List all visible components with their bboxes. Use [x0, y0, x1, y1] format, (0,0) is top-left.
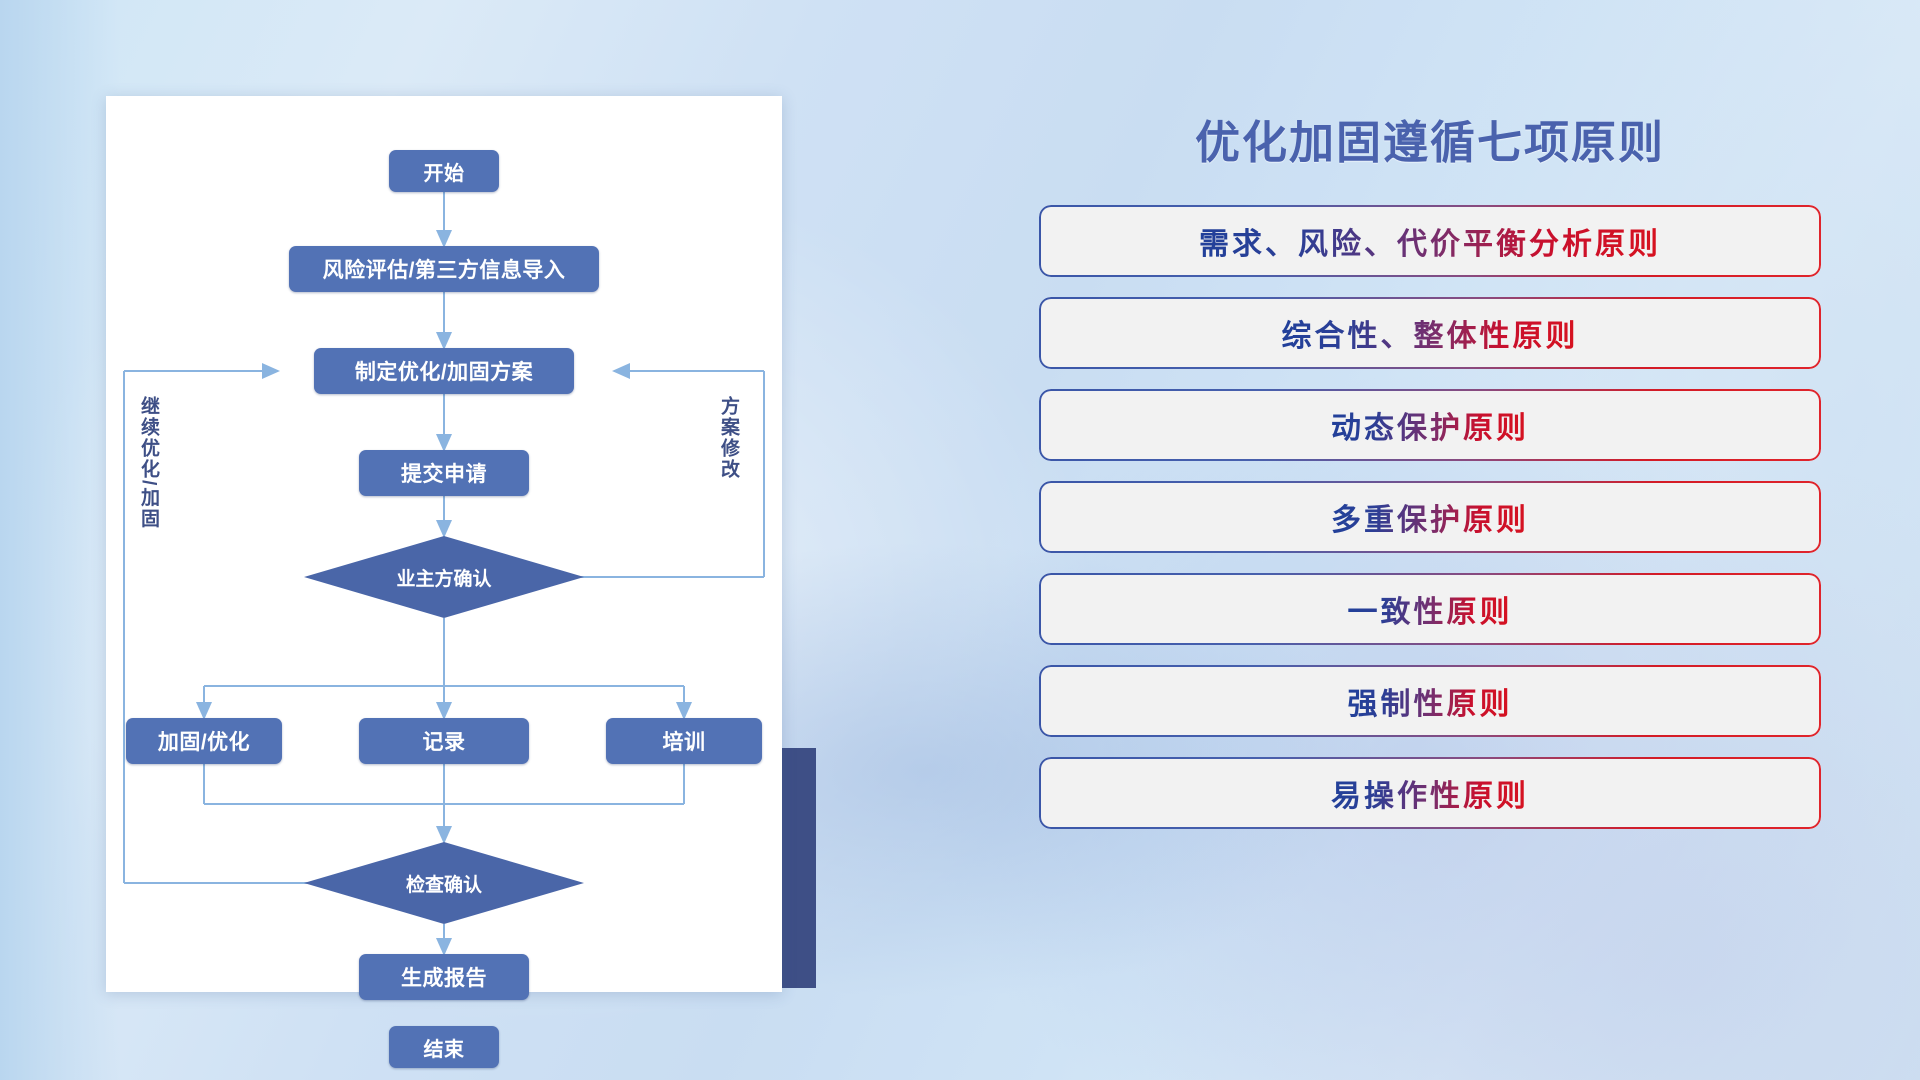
flow-node-plan[interactable]: 制定优化/加固方案	[314, 348, 574, 394]
flow-node-record[interactable]: 记录	[359, 718, 529, 764]
principle-label: 动态保护原则	[1331, 403, 1529, 447]
principle-item-7[interactable]: 易操作性原则	[1039, 757, 1821, 829]
flow-node-label: 加固/优化	[158, 726, 250, 756]
flow-edge-label-left: 继续优化/加固	[138, 396, 158, 529]
principle-label: 多重保护原则	[1331, 495, 1529, 539]
background-edge-left	[0, 0, 120, 1080]
flow-node-label: 制定优化/加固方案	[355, 356, 533, 386]
flow-node-risk-assessment[interactable]: 风险评估/第三方信息导入	[289, 246, 599, 292]
principle-item-2[interactable]: 综合性、整体性原则	[1039, 297, 1821, 369]
flowchart-card: 开始 风险评估/第三方信息导入 制定优化/加固方案 提交申请 业主方确认 加固/…	[106, 96, 782, 992]
panel-title: 优化加固遵循七项原则	[1020, 96, 1840, 171]
principle-item-6[interactable]: 强制性原则	[1039, 665, 1821, 737]
flow-node-owner-confirm[interactable]: 业主方确认	[304, 536, 584, 618]
flow-node-submit[interactable]: 提交申请	[359, 450, 529, 496]
flow-edge-label-right: 方案修改	[718, 396, 738, 480]
flow-node-label: 记录	[423, 726, 466, 756]
flow-node-label: 开始	[424, 157, 465, 186]
flow-node-generate-report[interactable]: 生成报告	[359, 954, 529, 1000]
principle-label: 易操作性原则	[1331, 771, 1529, 815]
principle-label: 一致性原则	[1348, 587, 1513, 631]
flow-node-end[interactable]: 结束	[389, 1026, 499, 1068]
flow-node-label: 检查确认	[406, 870, 482, 897]
principle-label: 综合性、整体性原则	[1282, 311, 1579, 355]
principle-label: 强制性原则	[1348, 679, 1513, 723]
flow-node-start[interactable]: 开始	[389, 150, 499, 192]
principle-item-5[interactable]: 一致性原则	[1039, 573, 1821, 645]
flow-node-label: 结束	[424, 1033, 465, 1062]
principle-item-4[interactable]: 多重保护原则	[1039, 481, 1821, 553]
flow-node-label: 生成报告	[401, 962, 487, 992]
principle-item-1[interactable]: 需求、风险、代价平衡分析原则	[1039, 205, 1821, 277]
flow-node-label: 提交申请	[401, 458, 487, 488]
flow-node-label: 培训	[663, 726, 706, 756]
flow-node-label: 风险评估/第三方信息导入	[323, 254, 566, 284]
flow-node-training[interactable]: 培训	[606, 718, 762, 764]
principle-label: 需求、风险、代价平衡分析原则	[1199, 219, 1661, 263]
flow-node-reinforce[interactable]: 加固/优化	[126, 718, 282, 764]
flow-node-check-confirm[interactable]: 检查确认	[304, 842, 584, 924]
principles-panel: 优化加固遵循七项原则 需求、风险、代价平衡分析原则 综合性、整体性原则 动态保护…	[1020, 96, 1840, 996]
principle-item-3[interactable]: 动态保护原则	[1039, 389, 1821, 461]
flow-node-label: 业主方确认	[396, 564, 491, 591]
